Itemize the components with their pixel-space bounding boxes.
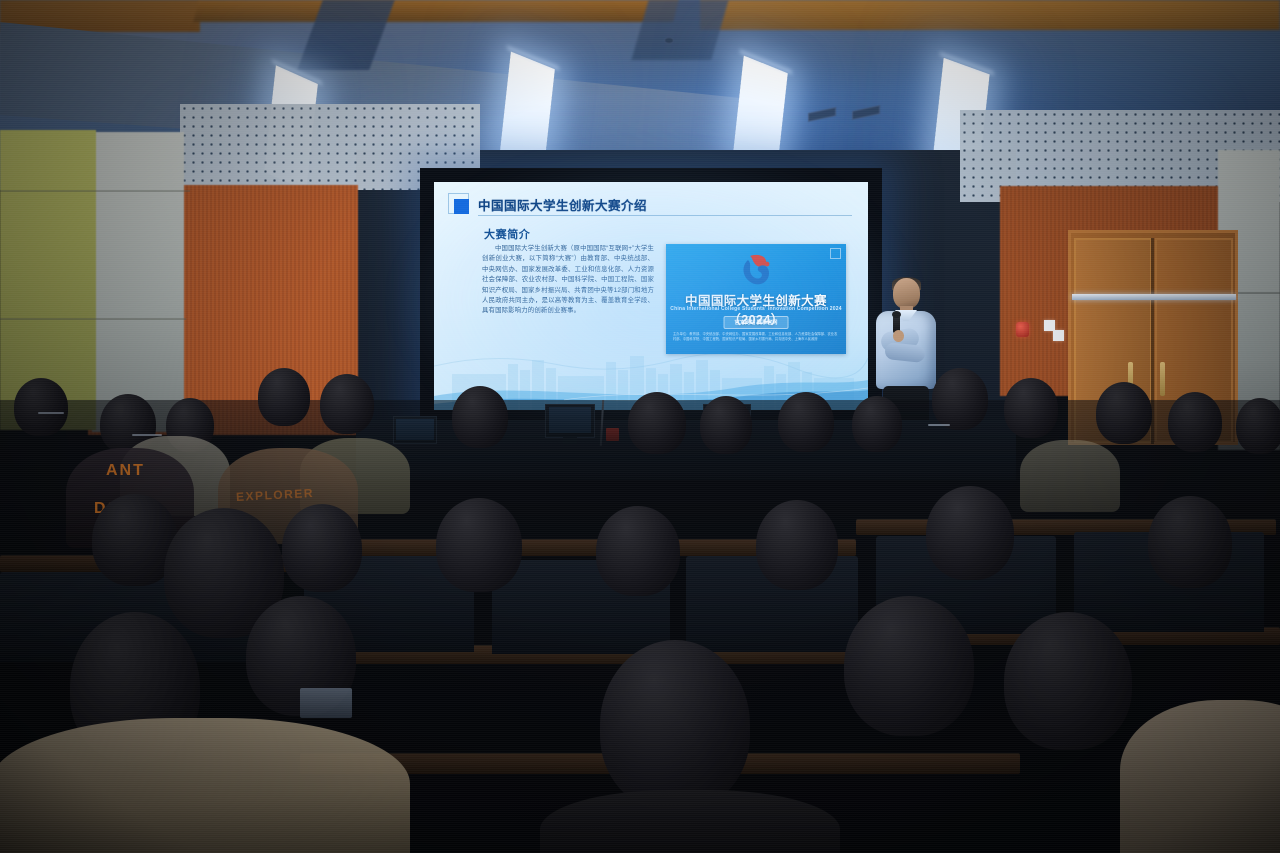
wall-seam-lower-left bbox=[0, 318, 186, 320]
door-push-bar[interactable] bbox=[1072, 294, 1236, 300]
foreground-person-torso-center bbox=[540, 790, 840, 853]
poster-title-en: China International College Students' In… bbox=[666, 306, 846, 312]
shirt-graphic-text-1: ANT bbox=[106, 462, 145, 480]
audience-head bbox=[926, 486, 1014, 580]
poster-footer-text: 主办单位：教育部、中央统战部、中央网信办、国家发展改革委、工业和信息化部、人力资… bbox=[673, 332, 839, 342]
audience-head-foreground bbox=[1004, 612, 1132, 750]
audience-head bbox=[1236, 398, 1280, 454]
audience-head bbox=[436, 498, 522, 592]
audience-head bbox=[282, 504, 362, 592]
audience-head bbox=[1096, 382, 1152, 444]
foreground-person-torso-right bbox=[1120, 700, 1280, 853]
slide-section-heading: 大赛简介 bbox=[484, 226, 530, 242]
microphone-head bbox=[892, 311, 901, 318]
eyeglasses bbox=[38, 412, 64, 414]
audience-head bbox=[700, 396, 752, 454]
audience-head bbox=[320, 374, 374, 434]
foreground-person-torso bbox=[0, 718, 410, 853]
audience-head bbox=[14, 378, 68, 436]
slide-bullet-square-icon bbox=[454, 199, 469, 214]
wall-switch-plate-2[interactable] bbox=[1053, 330, 1064, 341]
eyeglasses bbox=[132, 434, 162, 436]
poster-corner-mark bbox=[830, 248, 841, 259]
audience-head bbox=[628, 392, 686, 454]
audience-head bbox=[932, 368, 988, 430]
audience-head bbox=[778, 392, 834, 452]
ceiling-warm-trim-right bbox=[700, 0, 1280, 30]
audience-head bbox=[756, 500, 838, 590]
wall-panel-gray-left bbox=[92, 132, 184, 432]
door-handle-right[interactable] bbox=[1160, 362, 1165, 396]
audience-head bbox=[1004, 378, 1058, 438]
slide-header: 中国国际大学生创新大赛介绍 bbox=[448, 192, 856, 218]
ceiling-speaker bbox=[664, 37, 674, 44]
audience-head bbox=[1148, 496, 1232, 588]
presenter-head bbox=[893, 278, 920, 309]
slide-title: 中国国际大学生创新大赛介绍 bbox=[478, 195, 647, 214]
competition-poster-image: 中国国际大学生创新大赛（2024） China International Co… bbox=[666, 244, 846, 354]
phone-screen[interactable] bbox=[300, 688, 352, 718]
slide-title-underline bbox=[478, 215, 852, 216]
poster-button: 官方网站 赛事官网 bbox=[724, 316, 789, 329]
wall-seam-upper-left bbox=[0, 190, 190, 192]
slide-body-text: 中国国际大学生创新大赛（原中国国际“互联网+”大学生创新创业大赛，以下简称“大赛… bbox=[482, 244, 654, 317]
audience-head-foreground bbox=[844, 596, 974, 736]
eyeglasses bbox=[928, 424, 950, 426]
projection-screen: 中国国际大学生创新大赛介绍 大赛简介 中国国际大学生创新大赛（原中国国际“互联网… bbox=[434, 182, 868, 410]
audience-head-foreground bbox=[600, 640, 750, 810]
fire-alarm-icon bbox=[1016, 322, 1029, 337]
audience-torso-light bbox=[1020, 440, 1120, 512]
presenter-hand bbox=[893, 330, 904, 342]
audience-head bbox=[596, 506, 680, 596]
audience-head bbox=[1168, 392, 1222, 452]
lecture-hall-photo: 中国国际大学生创新大赛介绍 大赛简介 中国国际大学生创新大赛（原中国国际“互联网… bbox=[0, 0, 1280, 853]
competition-emblem-icon bbox=[736, 252, 776, 288]
audience-head bbox=[852, 396, 902, 452]
ceiling-warm-trim-middle bbox=[193, 0, 678, 22]
audience-head bbox=[258, 368, 310, 426]
audience-head bbox=[452, 386, 508, 448]
